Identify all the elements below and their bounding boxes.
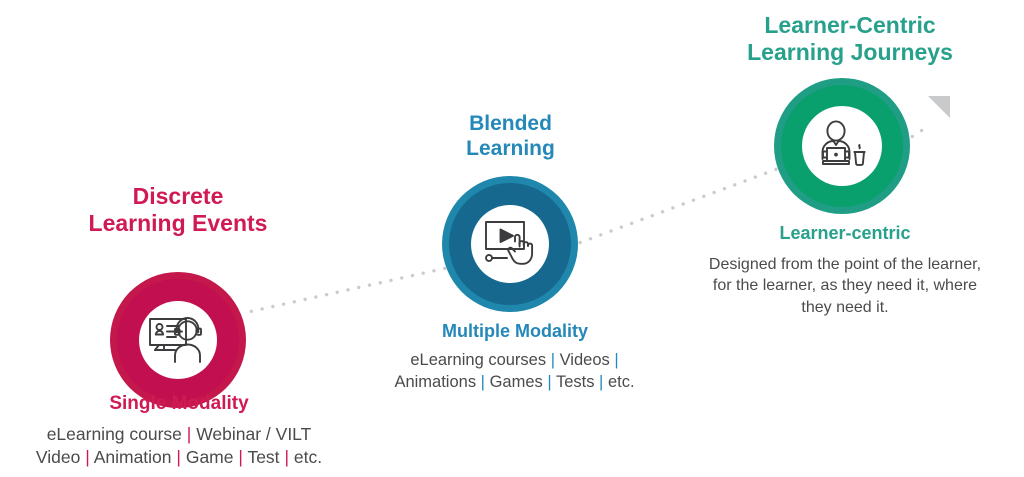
- detail-separator: |: [599, 373, 603, 391]
- icon-core-discrete: [139, 301, 217, 379]
- ring-inner-blended: [449, 183, 571, 305]
- stage-title-discrete: Discrete Learning Events: [38, 183, 318, 237]
- detail-item: Videos: [560, 351, 610, 369]
- detail-item: Webinar / VILT: [196, 424, 311, 444]
- detail-line: Video | Animation | Game | Test | etc.: [14, 446, 344, 469]
- icon-core-blended: [471, 205, 549, 283]
- detail-separator: |: [614, 351, 618, 369]
- stage-modality-blended: Multiple Modality: [390, 321, 640, 342]
- detail-item: Video: [36, 447, 80, 467]
- detail-separator: |: [176, 447, 181, 467]
- detail-description: Designed from the point of the learner, …: [700, 254, 990, 318]
- arrow-up-right-icon: [928, 96, 950, 118]
- detail-item: Animations: [394, 373, 476, 391]
- monitor-headset-person-icon: [147, 314, 209, 366]
- detail-line: eLearning course | Webinar / VILT: [14, 423, 344, 446]
- detail-separator: |: [187, 424, 192, 444]
- detail-item: eLearning courses: [410, 351, 546, 369]
- stage-modality-learner: Learner-centric: [700, 223, 990, 244]
- detail-separator: |: [547, 373, 551, 391]
- person-laptop-coffee-icon: [812, 120, 872, 172]
- detail-item: Tests: [556, 373, 595, 391]
- detail-separator: |: [238, 447, 243, 467]
- detail-item: Animation: [94, 447, 172, 467]
- detail-separator: |: [284, 447, 289, 467]
- ring-inner-discrete: [117, 279, 239, 401]
- detail-separator: |: [85, 447, 90, 467]
- ring-outer-learner: [774, 78, 910, 214]
- detail-item: Game: [186, 447, 234, 467]
- detail-item: etc.: [608, 373, 635, 391]
- detail-item: eLearning course: [47, 424, 182, 444]
- stage-title-learner: Learner-Centric Learning Journeys: [700, 12, 1000, 66]
- detail-line: Animations | Games | Tests | etc.: [372, 372, 657, 394]
- ring-inner-learner: [781, 85, 903, 207]
- ring-outer-blended: [442, 176, 578, 312]
- detail-item: etc.: [294, 447, 322, 467]
- stage-circle-learner[interactable]: [774, 78, 910, 214]
- detail-item: Games: [490, 373, 543, 391]
- video-play-hand-cursor-icon: [482, 219, 538, 269]
- stage-detail-learner: Designed from the point of the learner, …: [700, 254, 990, 318]
- detail-line: eLearning courses | Videos |: [372, 350, 657, 372]
- stage-title-blended: Blended Learning: [398, 112, 623, 161]
- connector-dots-discrete-to-blended: [245, 264, 450, 316]
- ring-outer-discrete: [110, 272, 246, 408]
- stage-detail-blended: eLearning courses | Videos | Animations …: [372, 350, 657, 394]
- stage-detail-discrete: eLearning course | Webinar / VILT Video …: [14, 423, 344, 470]
- stage-modality-discrete: Single Modality: [38, 393, 320, 415]
- detail-item: Test: [247, 447, 279, 467]
- detail-separator: |: [551, 351, 555, 369]
- stage-circle-blended[interactable]: [442, 176, 578, 312]
- icon-core-learner: [802, 106, 882, 186]
- stage-circle-discrete[interactable]: [110, 272, 246, 408]
- infographic-canvas: Discrete Learning Events: [0, 0, 1024, 477]
- detail-separator: |: [481, 373, 485, 391]
